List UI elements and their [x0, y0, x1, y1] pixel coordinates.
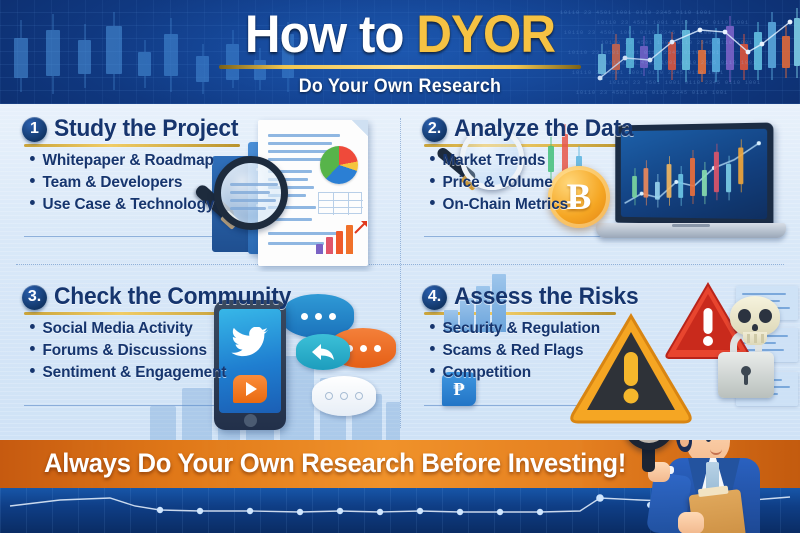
- subtitle: Do Your Own Research: [24, 76, 776, 98]
- bullet-text: Team & Developers: [42, 174, 182, 192]
- quadrant-assess-the-risks[interactable]: ₱: [400, 272, 800, 440]
- bullet-dot-icon: [30, 178, 35, 183]
- bullet-text: Security & Regulation: [442, 320, 600, 338]
- bullet-dot-icon: [430, 178, 435, 183]
- quadrant-check-the-community[interactable]: 3. Check the Community Social Media Acti…: [0, 272, 400, 440]
- quadrant-analyze-the-data[interactable]: Ƀ 2. Analyze the Data Market Trends Pric…: [400, 104, 800, 272]
- speech-bubble-icon: [312, 376, 376, 416]
- bullet-dot-icon: [30, 346, 35, 351]
- bullet-text: Forums & Discussions: [42, 342, 207, 360]
- quadrant-title-rule: [24, 144, 240, 147]
- step-number-badge: 4.: [422, 285, 447, 310]
- laptop-icon: [596, 124, 786, 252]
- quadrant-title: Analyze the Data: [454, 115, 633, 143]
- footer-tagline: Always Do Your Own Research Before Inves…: [44, 448, 626, 479]
- bullet-text: Whitepaper & Roadmap: [42, 152, 213, 170]
- bullet-dot-icon: [430, 368, 435, 373]
- magnifying-glass-icon: [622, 440, 684, 470]
- bullet-dot-icon: [430, 200, 435, 205]
- quadrant-1-bullets: Whitepaper & Roadmap Team & Developers U…: [30, 152, 222, 218]
- footer-banner: Always Do Your Own Research Before Inves…: [0, 440, 800, 533]
- twitter-bird-icon: [231, 327, 269, 357]
- hand-holding-clipboard: [678, 512, 704, 533]
- video-play-icon: [233, 375, 267, 403]
- bullet-text: Sentiment & Engagement: [42, 364, 226, 382]
- quadrant-title: Check the Community: [54, 283, 291, 311]
- table-icon: [318, 192, 362, 214]
- bullet-text: Competition: [442, 364, 531, 382]
- list-item: Social Media Activity: [30, 320, 226, 338]
- bullet-text: Market Trends: [442, 152, 545, 170]
- researcher-illustration: [640, 440, 800, 533]
- quadrant-1-heading: 1 Study the Project: [22, 115, 248, 143]
- bullet-text: Social Media Activity: [42, 320, 192, 338]
- quadrant-3-heading: 3. Check the Community: [22, 283, 304, 311]
- bullet-dot-icon: [430, 156, 435, 161]
- phone-home-button: [244, 414, 257, 427]
- skull-icon: [730, 296, 780, 348]
- title-gold-rule: [219, 65, 581, 69]
- list-item: On-Chain Metrics: [430, 196, 568, 214]
- up-arrow-icon: [354, 220, 368, 234]
- list-item: Whitepaper & Roadmap: [30, 152, 214, 170]
- quadrant-3-bullets: Social Media Activity Forums & Discussio…: [30, 320, 235, 386]
- bullet-dot-icon: [430, 324, 435, 329]
- list-item: Scams & Red Flags: [430, 342, 600, 360]
- padlock-icon: [718, 348, 774, 398]
- quadrant-2-heading: 2. Analyze the Data: [422, 115, 643, 143]
- quadrant-4-bullets: Security & Regulation Scams & Red Flags …: [430, 320, 607, 386]
- bullet-text: Use Case & Technology: [42, 196, 214, 214]
- list-item: Market Trends: [430, 152, 568, 170]
- quadrant-study-the-project[interactable]: 1 Study the Project Whitepaper & Roadmap…: [0, 104, 400, 272]
- bullet-dot-icon: [30, 200, 35, 205]
- bullet-dot-icon: [30, 368, 35, 373]
- infographic-poster: 10110 23 4501 1001 0110 2345 0110 100110…: [0, 0, 800, 533]
- bar-chart-icon: [316, 222, 368, 254]
- quadrant-2-bullets: Market Trends Price & Volume On-Chain Me…: [430, 152, 574, 218]
- bullet-text: On-Chain Metrics: [442, 196, 568, 214]
- main-title: How to DYOR: [28, 8, 772, 61]
- quadrant-area: 1 Study the Project Whitepaper & Roadmap…: [0, 104, 800, 440]
- step-number-badge: 1: [22, 117, 47, 142]
- quadrant-title: Study the Project: [54, 115, 238, 143]
- list-item: Competition: [430, 364, 600, 382]
- pie-chart-icon: [320, 146, 358, 184]
- list-item: Security & Regulation: [430, 320, 600, 338]
- title-how-to: How to: [245, 5, 404, 64]
- bullet-dot-icon: [30, 324, 35, 329]
- bullet-text: Price & Volume: [442, 174, 552, 192]
- title-block: How to DYOR Do Your Own Research: [0, 8, 800, 98]
- quadrant-bottom-rule: [424, 236, 624, 237]
- reply-bubble-icon: [296, 334, 350, 370]
- bullet-dot-icon: [30, 156, 35, 161]
- step-number-badge: 2.: [422, 117, 447, 142]
- title-dyor: DYOR: [416, 5, 555, 64]
- reply-arrow-icon: [310, 342, 336, 362]
- bullet-dot-icon: [430, 346, 435, 351]
- bullet-text: Scams & Red Flags: [442, 342, 583, 360]
- step-number-badge: 3.: [22, 285, 47, 310]
- list-item: Price & Volume: [430, 174, 568, 192]
- header-banner: 10110 23 4501 1001 0110 2345 0110 100110…: [0, 0, 800, 104]
- list-item: Team & Developers: [30, 174, 214, 192]
- list-item: Use Case & Technology: [30, 196, 214, 214]
- list-item: Forums & Discussions: [30, 342, 226, 360]
- list-item: Sentiment & Engagement: [30, 364, 226, 382]
- quadrant-title: Assess the Risks: [454, 283, 639, 311]
- laptop-base: [596, 223, 786, 238]
- quadrant-4-heading: 4. Assess the Risks: [422, 283, 648, 311]
